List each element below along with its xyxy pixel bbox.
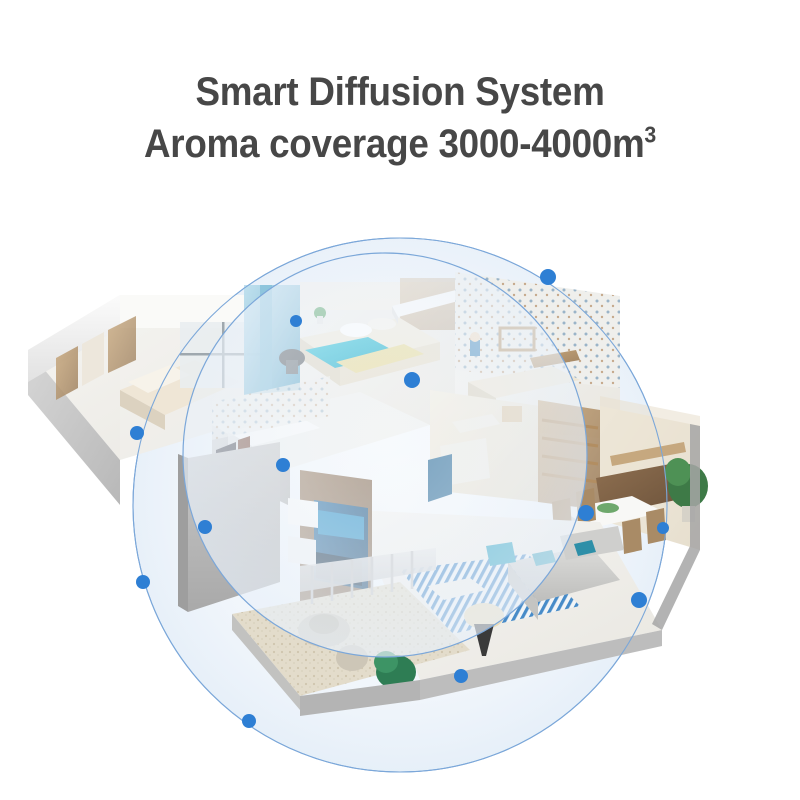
page-title: Smart Diffusion System Aroma coverage 30…	[0, 66, 800, 170]
coverage-node-dot[interactable]	[276, 458, 290, 472]
inner-coverage-ring	[183, 253, 587, 657]
coverage-node-dot[interactable]	[657, 522, 669, 534]
coverage-illustration	[0, 210, 800, 800]
title-line-1: Smart Diffusion System	[32, 66, 768, 118]
coverage-node-dot[interactable]	[578, 505, 594, 521]
title-line-2: Aroma coverage 3000-4000m3	[32, 118, 768, 170]
title-superscript: 3	[644, 122, 656, 148]
coverage-node-dot[interactable]	[404, 372, 420, 388]
page-root: Smart Diffusion System Aroma coverage 30…	[0, 0, 800, 800]
coverage-node-dot[interactable]	[540, 269, 556, 285]
coverage-node-dot[interactable]	[454, 669, 468, 683]
coverage-node-dot[interactable]	[242, 714, 256, 728]
inner-ring-circle	[183, 253, 587, 657]
coverage-node-dot[interactable]	[130, 426, 144, 440]
coverage-node-dot[interactable]	[631, 592, 647, 608]
coverage-node-dot[interactable]	[136, 575, 150, 589]
coverage-node-dot[interactable]	[198, 520, 212, 534]
title-line-2-text: Aroma coverage 3000-4000m	[144, 122, 644, 166]
coverage-node-dot[interactable]	[290, 315, 302, 327]
